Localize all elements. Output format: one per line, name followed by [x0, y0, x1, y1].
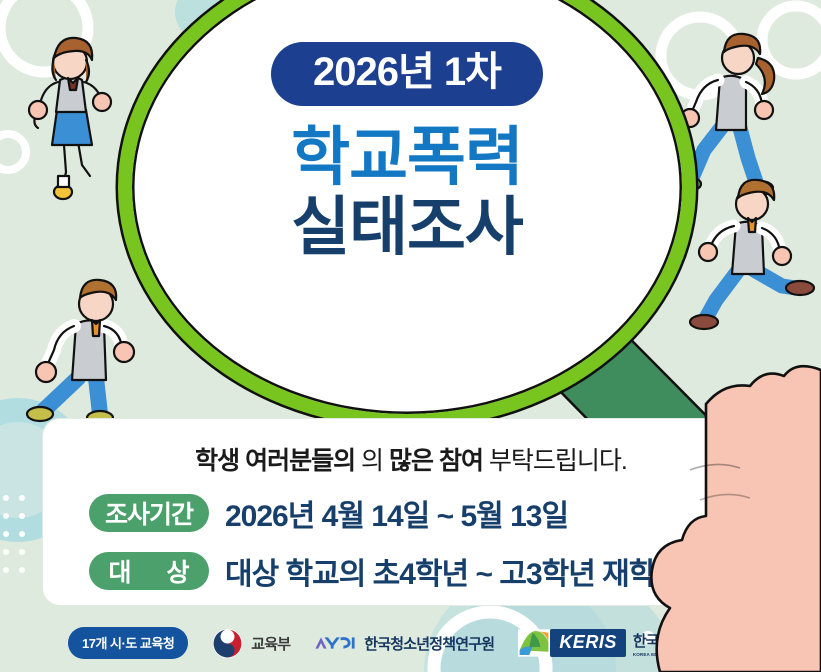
- hand-holding-magnifier: [0, 0, 821, 672]
- poster-root: 2026년 1차 학교폭력 실태조사 학생 여러분들의 의 많은 참여 부탁드립…: [0, 0, 821, 672]
